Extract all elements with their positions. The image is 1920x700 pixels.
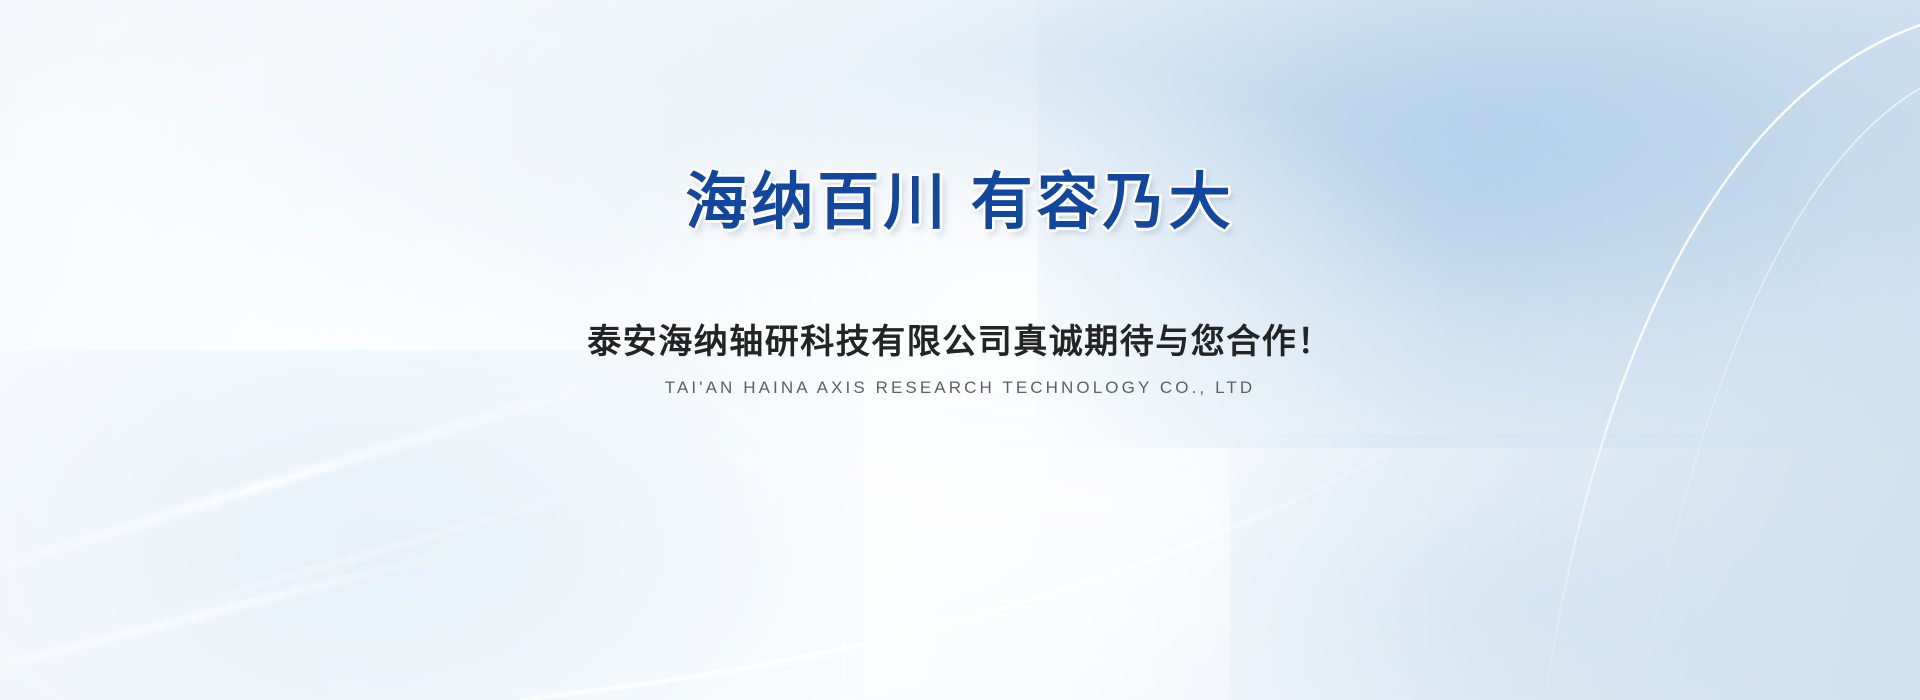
- hero-banner: 海纳百川 有容乃大 泰安海纳轴研科技有限公司真诚期待与您合作！ TAI'AN H…: [0, 0, 1920, 700]
- banner-headline: 海纳百川 有容乃大: [685, 168, 1234, 237]
- banner-subtitle-english: TAI'AN HAINA AXIS RESEARCH TECHNOLOGY CO…: [587, 378, 1333, 398]
- banner-content: 海纳百川 有容乃大 泰安海纳轴研科技有限公司真诚期待与您合作！ TAI'AN H…: [0, 0, 1920, 700]
- banner-subtitle-chinese: 泰安海纳轴研科技有限公司真诚期待与您合作！: [587, 321, 1333, 364]
- banner-subtitle-block: 泰安海纳轴研科技有限公司真诚期待与您合作！ TAI'AN HAINA AXIS …: [587, 321, 1333, 398]
